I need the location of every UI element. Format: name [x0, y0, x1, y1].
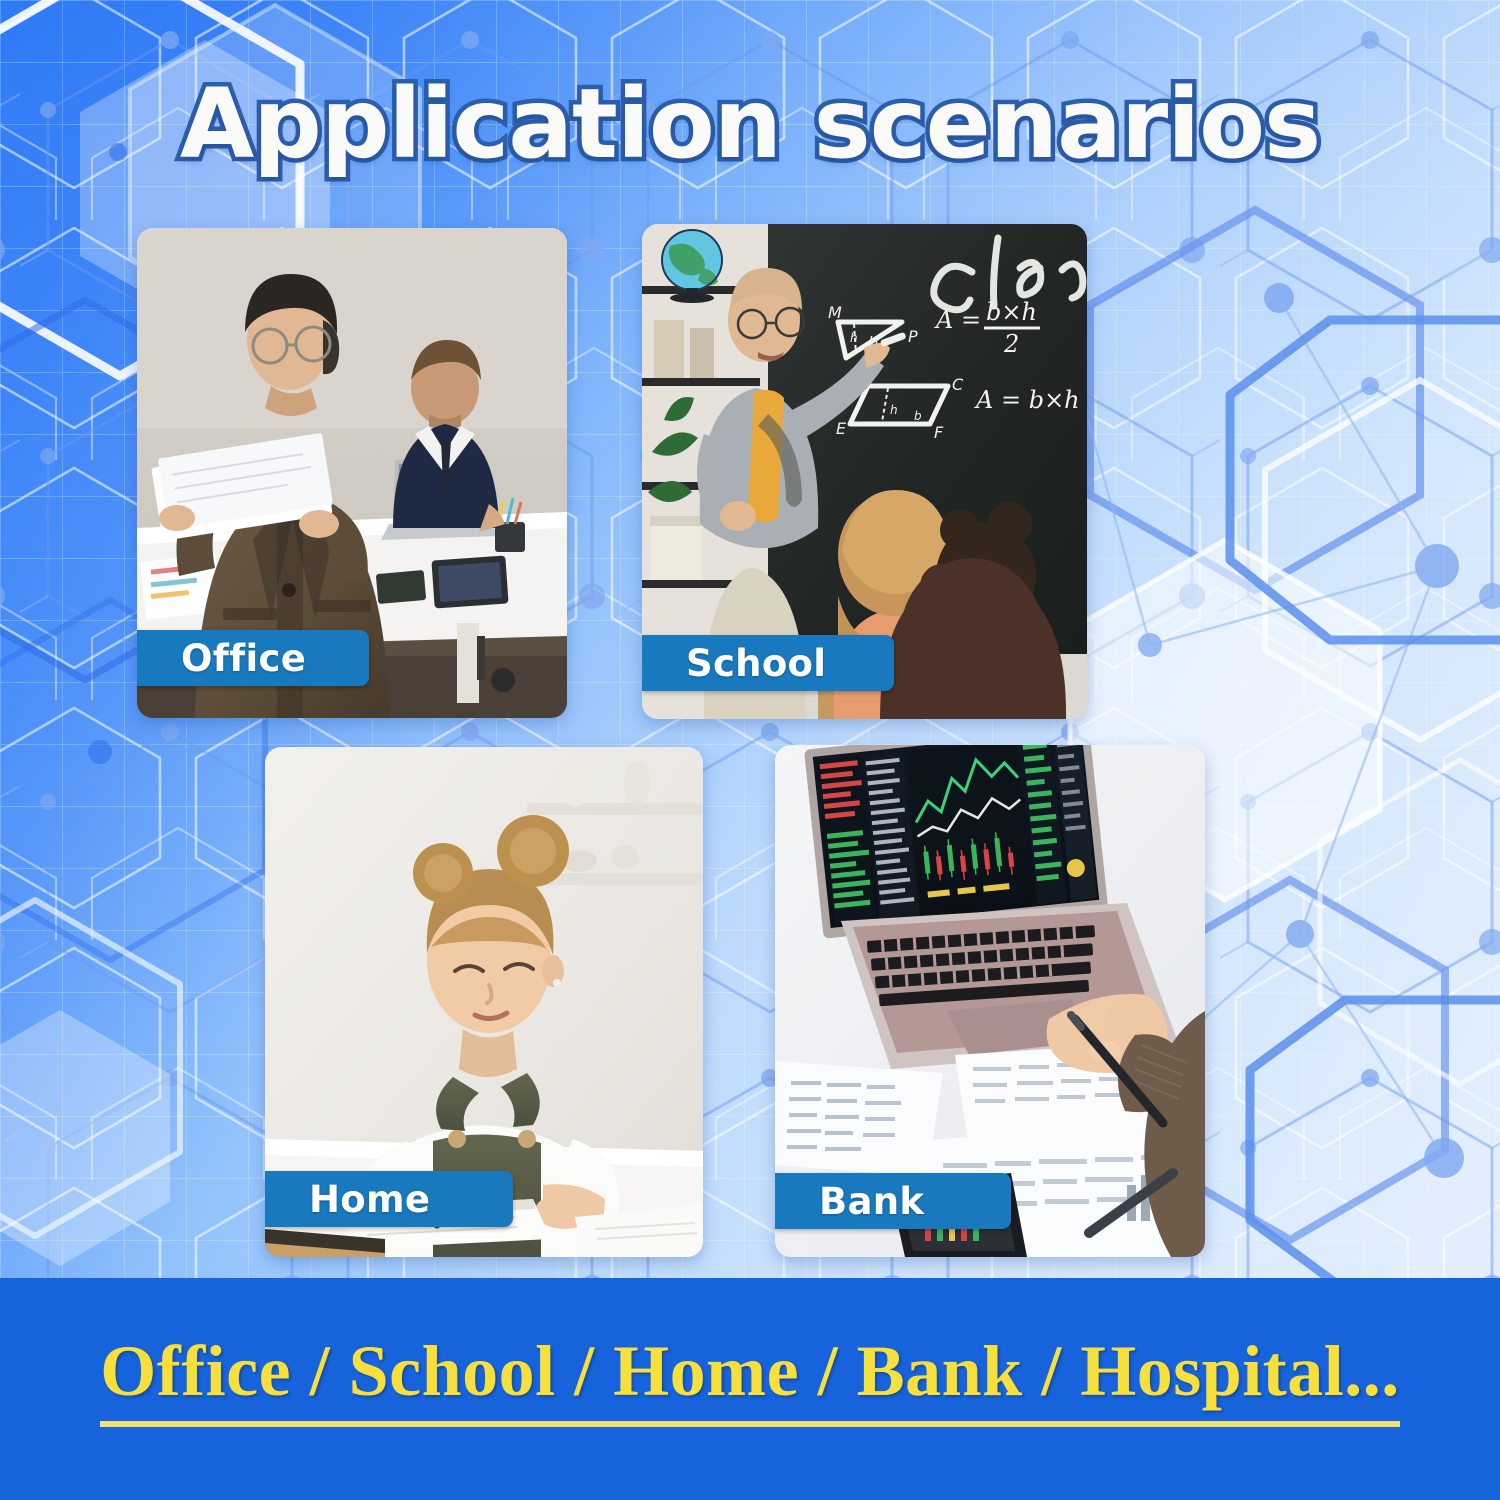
- page-title: Application scenarios: [180, 74, 1320, 175]
- badge-home: Home: [265, 1171, 513, 1227]
- scenario-card-school[interactable]: M b P h A = b×h 2 D: [642, 224, 1087, 719]
- svg-text:h: h: [890, 403, 898, 417]
- page-title-wrapper: Application scenarios: [0, 74, 1500, 175]
- badge-office: Office: [137, 630, 369, 686]
- badge-school: School: [642, 635, 894, 691]
- badge-school-label: School: [642, 642, 826, 685]
- footer-scenarios-text: Office / School / Home / Bank / Hospital…: [100, 1330, 1400, 1427]
- svg-text:C: C: [952, 375, 964, 394]
- footer-banner: Office / School / Home / Bank / Hospital…: [0, 1278, 1500, 1500]
- svg-text:E: E: [836, 419, 847, 438]
- svg-text:M: M: [828, 303, 842, 322]
- svg-text:P: P: [908, 327, 918, 346]
- scenario-card-home[interactable]: Home: [265, 747, 703, 1257]
- svg-text:b×h: b×h: [986, 298, 1037, 326]
- badge-bank-label: Bank: [775, 1180, 924, 1223]
- svg-text:A =: A =: [934, 306, 981, 334]
- svg-text:2: 2: [1003, 330, 1019, 358]
- footer-text-wrapper: Office / School / Home / Bank / Hospital…: [0, 1330, 1500, 1427]
- badge-home-label: Home: [265, 1178, 430, 1221]
- svg-text:F: F: [934, 423, 944, 442]
- svg-text:A = b×h: A = b×h: [974, 386, 1080, 414]
- badge-office-label: Office: [137, 637, 306, 680]
- svg-text:b: b: [914, 409, 922, 423]
- application-scenarios-banner: Application scenarios: [0, 0, 1500, 1500]
- badge-bank: Bank: [775, 1173, 1011, 1229]
- scenario-card-bank[interactable]: Bank: [775, 745, 1205, 1257]
- scenario-card-office[interactable]: Office: [137, 228, 567, 718]
